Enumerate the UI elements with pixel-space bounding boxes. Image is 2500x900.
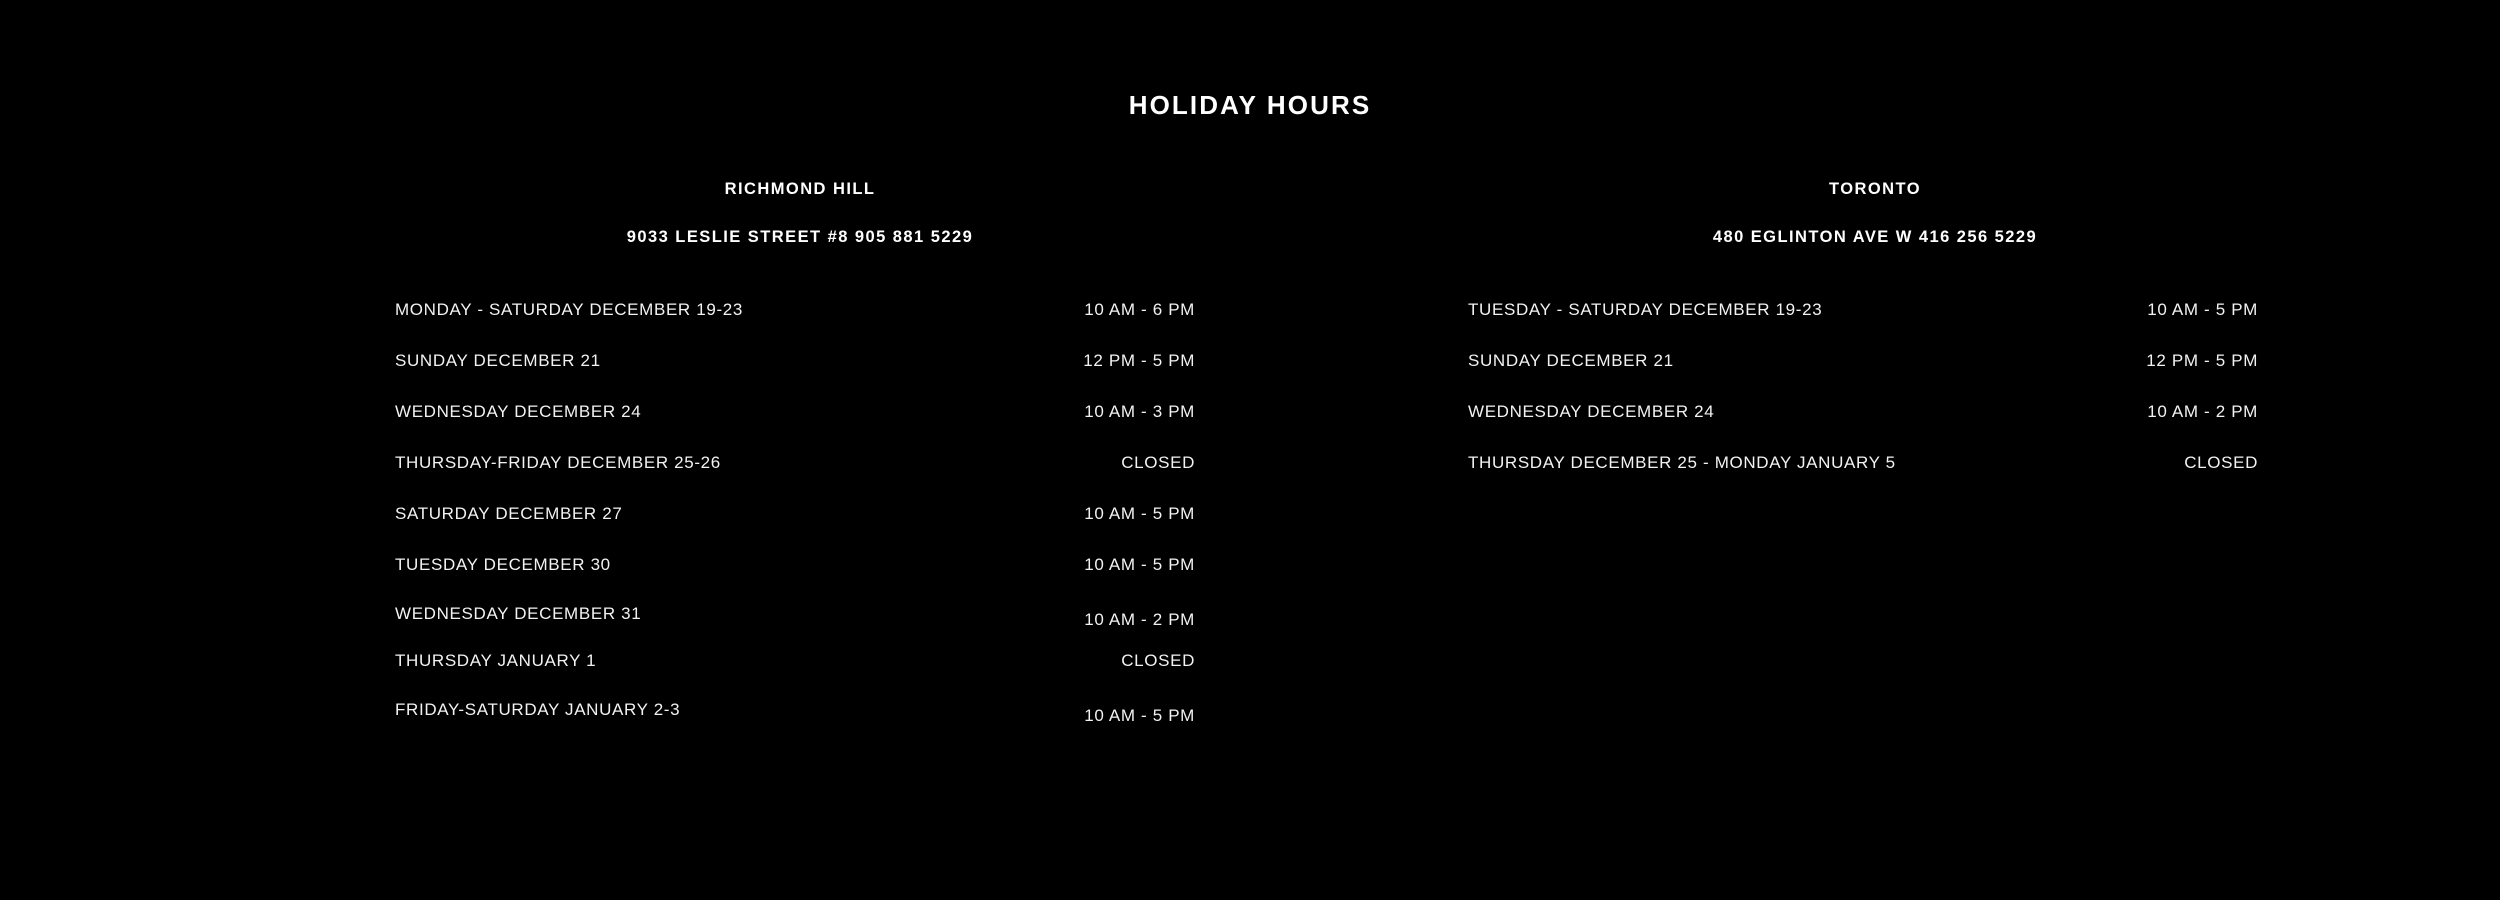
table-row: WEDNESDAY DECEMBER 31 10 AM - 2 PM [395, 590, 1227, 637]
day-label: THURSDAY DECEMBER 25 - MONDAY JANUARY 5 [1468, 437, 2008, 488]
time-value: CLOSED [915, 437, 1227, 488]
time-value: 10 AM - 2 PM [2008, 386, 2286, 437]
table-row: FRIDAY-SATURDAY JANUARY 2-3 10 AM - 5 PM [395, 684, 1227, 735]
time-value: 12 PM - 5 PM [915, 335, 1227, 386]
table-row: THURSDAY JANUARY 1 CLOSED [395, 637, 1227, 684]
day-label: THURSDAY-FRIDAY DECEMBER 25-26 [395, 437, 915, 488]
table-row: THURSDAY-FRIDAY DECEMBER 25-26 CLOSED [395, 437, 1227, 488]
day-label: WEDNESDAY DECEMBER 24 [395, 386, 915, 437]
time-value: 10 AM - 2 PM [915, 596, 1227, 643]
time-value: 10 AM - 5 PM [915, 488, 1227, 539]
time-value: 10 AM - 5 PM [915, 539, 1227, 590]
table-row: THURSDAY DECEMBER 25 - MONDAY JANUARY 5 … [1468, 437, 2286, 488]
location-name: TORONTO [1250, 178, 2500, 200]
time-value: 12 PM - 5 PM [2008, 335, 2286, 386]
table-row: WEDNESDAY DECEMBER 24 10 AM - 3 PM [395, 386, 1227, 437]
day-label: WEDNESDAY DECEMBER 24 [1468, 386, 2008, 437]
locations-container: RICHMOND HILL 9033 LESLIE STREET #8 905 … [0, 178, 2500, 735]
table-row: SUNDAY DECEMBER 21 12 PM - 5 PM [395, 335, 1227, 386]
day-label: TUESDAY - SATURDAY DECEMBER 19-23 [1468, 284, 2008, 335]
hours-table: TUESDAY - SATURDAY DECEMBER 19-23 10 AM … [1468, 284, 2286, 488]
table-row: SATURDAY DECEMBER 27 10 AM - 5 PM [395, 488, 1227, 539]
day-label: SUNDAY DECEMBER 21 [1468, 335, 2008, 386]
hours-table: MONDAY - SATURDAY DECEMBER 19-23 10 AM -… [395, 284, 1227, 735]
holiday-hours-page: HOLIDAY HOURS RICHMOND HILL 9033 LESLIE … [0, 0, 2500, 900]
time-value: 10 AM - 3 PM [915, 386, 1227, 437]
table-row: TUESDAY DECEMBER 30 10 AM - 5 PM [395, 539, 1227, 590]
time-value: 10 AM - 5 PM [2008, 284, 2286, 335]
day-label: SATURDAY DECEMBER 27 [395, 488, 915, 539]
table-row: MONDAY - SATURDAY DECEMBER 19-23 10 AM -… [395, 284, 1227, 335]
time-value: CLOSED [2008, 437, 2286, 488]
day-label: SUNDAY DECEMBER 21 [395, 335, 915, 386]
day-label: WEDNESDAY DECEMBER 31 [395, 590, 915, 637]
time-value: 10 AM - 6 PM [915, 284, 1227, 335]
time-value: CLOSED [915, 637, 1227, 684]
day-label: THURSDAY JANUARY 1 [395, 637, 915, 684]
day-label: MONDAY - SATURDAY DECEMBER 19-23 [395, 284, 915, 335]
day-label: TUESDAY DECEMBER 30 [395, 539, 915, 590]
day-label: FRIDAY-SATURDAY JANUARY 2-3 [395, 684, 915, 735]
location-column-toronto: TORONTO 480 EGLINTON AVE W 416 256 5229 … [1250, 178, 2500, 488]
location-address: 480 EGLINTON AVE W 416 256 5229 [1250, 226, 2500, 248]
time-value: 10 AM - 5 PM [915, 690, 1227, 741]
location-column-richmond-hill: RICHMOND HILL 9033 LESLIE STREET #8 905 … [0, 178, 1250, 735]
table-row: WEDNESDAY DECEMBER 24 10 AM - 2 PM [1468, 386, 2286, 437]
table-row: SUNDAY DECEMBER 21 12 PM - 5 PM [1468, 335, 2286, 386]
page-title: HOLIDAY HOURS [0, 88, 2500, 122]
table-row: TUESDAY - SATURDAY DECEMBER 19-23 10 AM … [1468, 284, 2286, 335]
